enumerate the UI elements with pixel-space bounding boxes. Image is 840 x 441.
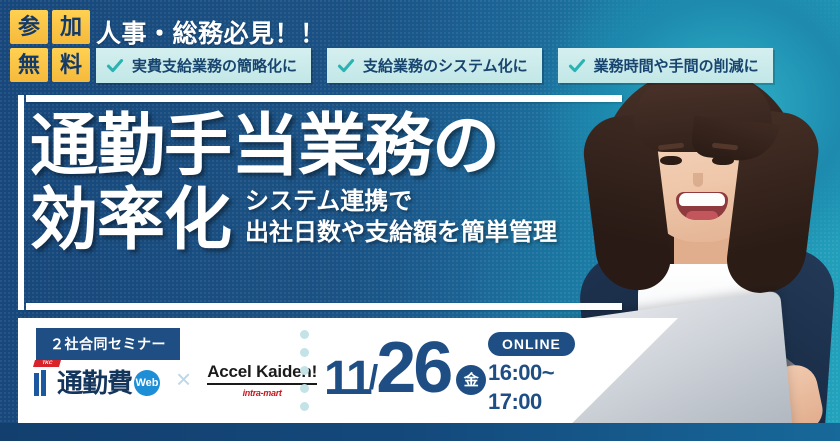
free-badge-char-4: 料: [52, 48, 90, 82]
teeth: [679, 193, 725, 206]
divider-left-edge: [18, 95, 24, 310]
logo-red-mark: TKC: [33, 360, 61, 367]
benefit-chip-list: 実費支給業務の簡略化に 支給業務のシステム化に 業務時間や手間の削減に: [96, 48, 773, 83]
headline-line-2: 効率化: [30, 186, 231, 254]
headline-subtitle: システム連携で 出社日数や支給額を簡単管理: [245, 186, 557, 254]
event-time-end: 17:00: [488, 389, 575, 414]
headline-line-1: 通勤手当業務の: [30, 112, 557, 180]
bottom-strip: [0, 423, 840, 441]
logo-tsukinhi-web: TKC 通勤費 Web: [34, 364, 160, 396]
event-time-start: 16:00~: [488, 360, 575, 385]
free-badge-char-3: 無: [10, 48, 48, 82]
subtitle-line-2: 出社日数や支給額を簡単管理: [245, 217, 557, 248]
audience-kicker: 人事・総務必見！！: [96, 14, 326, 50]
subtitle-line-1: システム連携で: [245, 186, 557, 217]
event-month: 11: [324, 357, 371, 401]
check-icon: [106, 57, 124, 75]
benefit-chip-1: 実費支給業務の簡略化に: [96, 48, 311, 83]
logo-web-badge: Web: [134, 370, 160, 396]
divider-bottom: [26, 303, 622, 310]
benefit-chip-2: 支給業務のシステム化に: [327, 48, 542, 83]
logo-intramart-name: intra-mart: [243, 388, 282, 398]
check-icon: [337, 57, 355, 75]
logo-word: 通勤費: [57, 370, 132, 396]
logo-cross-separator: ×: [176, 364, 191, 395]
tongue: [686, 211, 718, 220]
event-time-block: ONLINE 16:00~ 17:00: [488, 332, 575, 414]
event-date: 11 / 26 金: [324, 336, 486, 401]
benefit-chip-label: 業務時間や手間の削減に: [594, 55, 759, 76]
dotted-separator: [300, 330, 309, 411]
headline-row-2: 効率化 システム連携で 出社日数や支給額を簡単管理: [30, 186, 557, 254]
seminar-banner: 参 加 無 料 人事・総務必見！！ 実費支給業務の簡略化に 支給業務のシステム化…: [0, 0, 840, 441]
benefit-chip-label: 実費支給業務の簡略化に: [132, 55, 297, 76]
online-badge: ONLINE: [488, 332, 575, 356]
logo-bars-icon: TKC: [34, 364, 53, 396]
event-info-content: ２社合同セミナー TKC 通勤費 Web × Accel Kaiden! int…: [18, 318, 678, 423]
event-day: 26: [376, 336, 450, 401]
event-weekday-badge: 金: [456, 365, 486, 395]
seminar-type-tag: ２社合同セミナー: [36, 328, 180, 360]
eye-right: [712, 156, 734, 165]
eye-left: [660, 156, 682, 165]
divider-top: [26, 95, 622, 102]
participation-free-badge: 参 加 無 料: [10, 10, 90, 82]
free-badge-char-1: 参: [10, 10, 48, 44]
nose: [693, 173, 703, 187]
benefit-chip-3: 業務時間や手間の削減に: [558, 48, 773, 83]
partner-logos: TKC 通勤費 Web × Accel Kaiden! intra-mart: [34, 362, 317, 398]
check-icon: [568, 57, 586, 75]
free-badge-char-2: 加: [52, 10, 90, 44]
headline-block: 通勤手当業務の 効率化 システム連携で 出社日数や支給額を簡単管理: [30, 112, 557, 254]
benefit-chip-label: 支給業務のシステム化に: [363, 55, 528, 76]
hair-bangs: [634, 76, 772, 152]
